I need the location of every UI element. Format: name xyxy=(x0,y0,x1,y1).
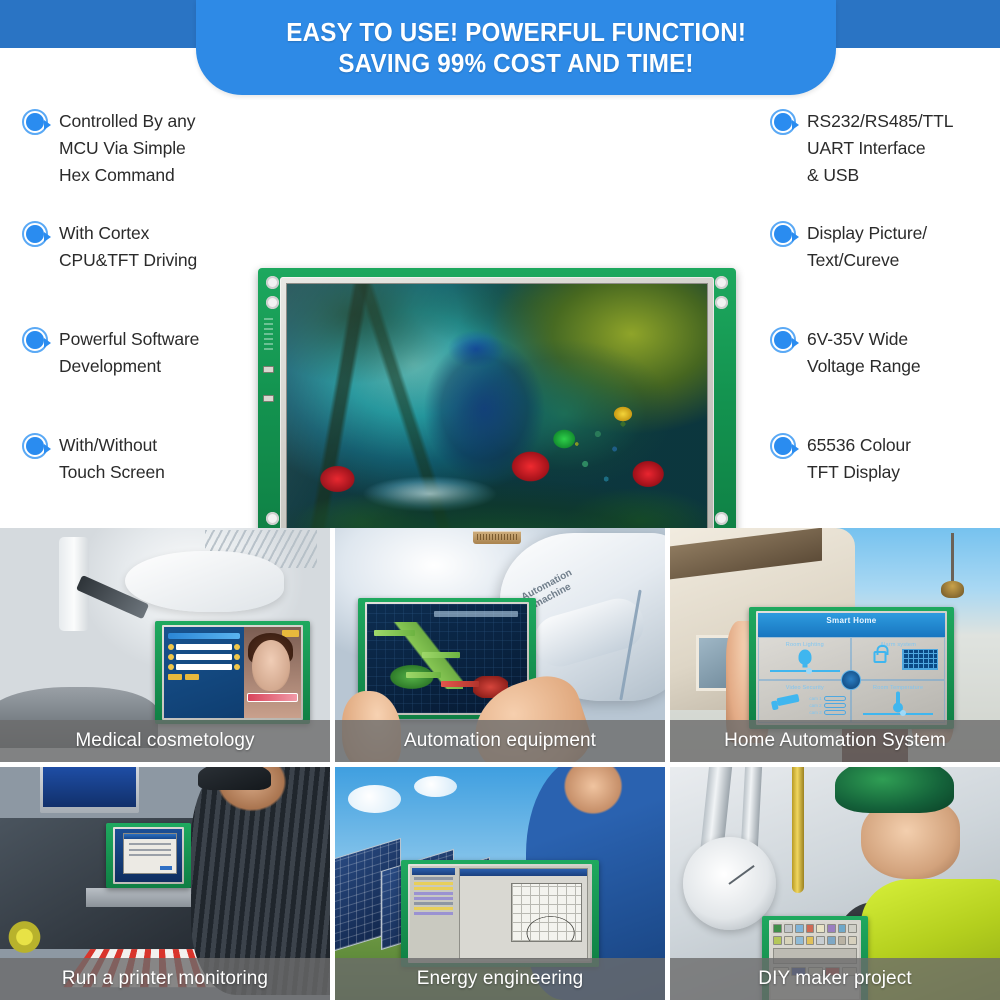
feature-line-1: Controlled By any xyxy=(59,108,195,135)
embedded-tft-module xyxy=(401,860,599,967)
feature-item-cortex-cpu: With Cortex CPU&TFT Driving xyxy=(22,220,252,274)
silkscreen-marking xyxy=(264,318,273,350)
application-grid: Medical cosmetology Automation machine xyxy=(0,528,1000,1000)
banner-headline-1: EASY TO USE! POWERFUL FUNCTION! xyxy=(286,17,746,47)
quadrant-label: Alarm system xyxy=(852,642,943,648)
application-cell-diy-maker[interactable]: DIY maker project xyxy=(670,767,1000,1000)
thermometer-icon xyxy=(896,691,900,708)
feature-item-display-content: Display Picture/ Text/Cureve xyxy=(770,220,1000,274)
feature-line-1: With/Without xyxy=(59,432,165,459)
mounting-hole xyxy=(715,276,728,289)
ribbon-cable-connector xyxy=(473,531,521,544)
product-feature-page: EASY TO USE! POWERFUL FUNCTION! SAVING 9… xyxy=(0,0,1000,1000)
bullet-marker-icon xyxy=(22,109,48,135)
feature-text: With Cortex CPU&TFT Driving xyxy=(59,220,197,274)
bullet-marker-icon xyxy=(22,221,48,247)
display-bezel xyxy=(280,277,714,541)
feature-line-2: Touch Screen xyxy=(59,459,165,486)
camera-icon xyxy=(777,696,799,704)
tft-screen xyxy=(286,283,708,535)
feature-item-colour-display: 65536 Colour TFT Display xyxy=(770,432,1000,486)
lighting-slider[interactable] xyxy=(770,670,839,672)
lock-icon xyxy=(873,651,886,663)
feature-line-2: CPU&TFT Driving xyxy=(59,247,197,274)
camera-label: cam 2 xyxy=(809,703,821,708)
mounting-hole xyxy=(266,296,279,309)
feature-text: RS232/RS485/TTL UART Interface & USB xyxy=(807,108,953,189)
feature-line-2: TFT Display xyxy=(807,459,911,486)
quadrant-label: Room Temperature xyxy=(852,685,943,691)
feature-item-software-development: Powerful Software Development xyxy=(22,326,252,380)
feature-list-left: Controlled By any MCU Via Simple Hex Com… xyxy=(22,108,252,522)
power-button-icon[interactable] xyxy=(841,670,861,690)
board-connector xyxy=(263,395,274,402)
quadrant-room-lighting[interactable]: Room Lighting xyxy=(758,637,851,680)
feature-line-1: 65536 Colour xyxy=(807,432,911,459)
feature-item-voltage-range: 6V-35V Wide Voltage Range xyxy=(770,326,1000,380)
bullet-marker-icon xyxy=(770,221,796,247)
feature-line-2: MCU Via Simple xyxy=(59,135,195,162)
feature-line-1: Display Picture/ xyxy=(807,220,927,247)
quadrant-label: Video Security xyxy=(759,685,850,691)
feature-line-3: Hex Command xyxy=(59,162,195,189)
feature-item-uart-interface: RS232/RS485/TTL UART Interface & USB xyxy=(770,108,1000,189)
feature-line-2: Development xyxy=(59,353,199,380)
smart-home-title: Smart Home xyxy=(758,613,945,637)
quadrant-alarm-system[interactable]: Alarm system xyxy=(851,637,944,680)
camera-toggle[interactable] xyxy=(824,696,846,701)
mounting-hole xyxy=(266,276,279,289)
bullet-marker-icon xyxy=(22,327,48,353)
quadrant-room-temperature[interactable]: Room Temperature xyxy=(851,680,944,723)
header: EASY TO USE! POWERFUL FUNCTION! SAVING 9… xyxy=(0,0,1000,100)
application-caption: Automation equipment xyxy=(335,720,665,762)
medical-ui-screen xyxy=(164,627,301,718)
feature-line-2: Voltage Range xyxy=(807,353,921,380)
feature-text: With/Without Touch Screen xyxy=(59,432,165,486)
bullet-marker-icon xyxy=(770,433,796,459)
application-cell-medical[interactable]: Medical cosmetology xyxy=(0,528,330,762)
printer-ui-screen xyxy=(115,829,183,882)
feature-text: Controlled By any MCU Via Simple Hex Com… xyxy=(59,108,195,189)
feature-line-1: RS232/RS485/TTL xyxy=(807,108,953,135)
feature-item-touch-screen: With/Without Touch Screen xyxy=(22,432,252,486)
alarm-keypad[interactable] xyxy=(902,649,939,670)
header-banner: EASY TO USE! POWERFUL FUNCTION! SAVING 9… xyxy=(196,0,836,95)
feature-text: Display Picture/ Text/Cureve xyxy=(807,220,927,274)
embedded-tft-module xyxy=(106,823,192,888)
feature-item-mcu-control: Controlled By any MCU Via Simple Hex Com… xyxy=(22,108,252,189)
screen-wallpaper-peacock xyxy=(287,284,707,534)
camera-toggle[interactable] xyxy=(824,703,846,708)
application-cell-printer-monitoring[interactable]: Run a printer monitoring xyxy=(0,767,330,1000)
application-caption: Run a printer monitoring xyxy=(0,958,330,1000)
board-connector xyxy=(263,366,274,373)
application-cell-automation[interactable]: Automation machine xyxy=(335,528,665,762)
quadrant-video-security[interactable]: Video Security cam 1 cam 2 cam 3 xyxy=(758,680,851,723)
bullet-marker-icon xyxy=(770,109,796,135)
mounting-hole xyxy=(266,512,279,525)
feature-line-3: & USB xyxy=(807,162,953,189)
feature-text: 65536 Colour TFT Display xyxy=(807,432,911,486)
quadrant-label: Room Lighting xyxy=(759,642,850,648)
embedded-tft-module xyxy=(155,621,310,724)
feature-text: 6V-35V Wide Voltage Range xyxy=(807,326,921,380)
application-caption: Energy engineering xyxy=(335,958,665,1000)
camera-label: cam 3 xyxy=(809,710,821,715)
embedded-tft-module: Smart Home Room Lighting Alarm system xyxy=(749,607,954,728)
bullet-marker-icon xyxy=(22,433,48,459)
feature-line-2: Text/Cureve xyxy=(807,247,927,274)
feature-list-right: RS232/RS485/TTL UART Interface & USB Dis… xyxy=(770,108,1000,522)
feature-line-1: Powerful Software xyxy=(59,326,199,353)
feature-line-1: With Cortex xyxy=(59,220,197,247)
energy-ui-screen xyxy=(410,866,590,961)
smart-home-ui-screen: Smart Home Room Lighting Alarm system xyxy=(758,613,945,722)
application-cell-energy-engineering[interactable]: Energy engineering xyxy=(335,767,665,1000)
mounting-hole xyxy=(715,512,728,525)
product-image xyxy=(258,268,736,553)
application-caption: DIY maker project xyxy=(670,958,1000,1000)
application-cell-home-automation[interactable]: Smart Home Room Lighting Alarm system xyxy=(670,528,1000,762)
feature-line-2: UART Interface xyxy=(807,135,953,162)
camera-label: cam 1 xyxy=(809,696,821,701)
bullet-marker-icon xyxy=(770,327,796,353)
camera-toggle[interactable] xyxy=(824,710,846,715)
feature-line-1: 6V-35V Wide xyxy=(807,326,921,353)
application-caption: Medical cosmetology xyxy=(0,720,330,762)
application-caption: Home Automation System xyxy=(670,720,1000,762)
hero-section: Controlled By any MCU Via Simple Hex Com… xyxy=(0,100,1000,528)
bulb-icon xyxy=(798,650,811,665)
mounting-hole xyxy=(715,296,728,309)
banner-headline-2: SAVING 99% COST AND TIME! xyxy=(338,48,693,78)
feature-text: Powerful Software Development xyxy=(59,326,199,380)
pcb-board xyxy=(258,268,736,553)
temperature-slider[interactable] xyxy=(863,713,932,715)
